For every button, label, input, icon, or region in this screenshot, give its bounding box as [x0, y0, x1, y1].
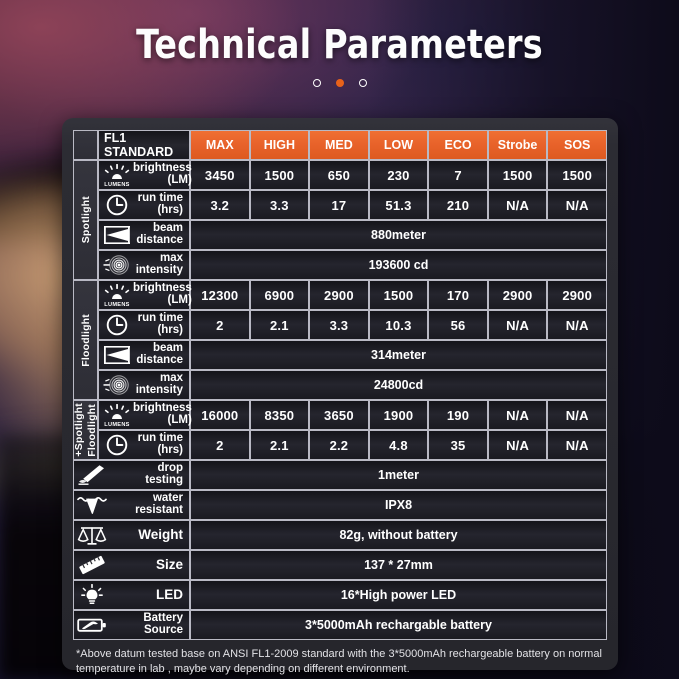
value-cell: 7 — [428, 160, 488, 190]
value-cell: 2.1 — [250, 430, 310, 460]
span-value-cell: 82g, without battery — [190, 520, 607, 550]
group-label-floodlight: Floodlight+Spotlight — [73, 400, 98, 460]
table-row: beamdistance880meter — [73, 220, 607, 250]
span-value-cell: 3*5000mAh rechargable battery — [190, 610, 607, 640]
value-cell: 2900 — [488, 280, 548, 310]
span-value-cell: IPX8 — [190, 490, 607, 520]
value-cell: 1900 — [369, 400, 429, 430]
table-row: Weight82g, without battery — [73, 520, 607, 550]
row-label-text: BatterySource — [108, 613, 186, 637]
page-title: Technical Parameters — [24, 22, 655, 68]
lumens-burst-icon: LUMENS — [101, 403, 133, 427]
ruler-icon — [76, 554, 108, 576]
value-cell: 4.8 — [369, 430, 429, 460]
group-label-text: Spotlight — [80, 196, 92, 243]
row-label-text: run time(hrs) — [133, 433, 186, 457]
table-row: maxintensity24800cd — [73, 370, 607, 400]
row-label-cell: run time(hrs) — [98, 310, 190, 340]
clock-icon — [101, 313, 133, 337]
value-cell: 8350 — [250, 400, 310, 430]
max-intensity-icon — [101, 254, 133, 276]
row-label-cell: droptesting — [73, 460, 190, 490]
lumens-burst-icon: LUMENS — [101, 163, 133, 187]
table-row: run time(hrs)22.12.24.835N/AN/A — [73, 430, 607, 460]
value-cell: 10.3 — [369, 310, 429, 340]
row-label-text: run time(hrs) — [133, 313, 186, 337]
column-header-eco: ECO — [428, 130, 488, 160]
lumens-burst-icon: LUMENS — [101, 283, 133, 307]
row-label-cell: maxintensity — [98, 370, 190, 400]
value-cell: 1500 — [250, 160, 310, 190]
value-cell: N/A — [547, 190, 607, 220]
row-label-text: brightness(LM) — [133, 163, 195, 187]
table-row: maxintensity193600 cd — [73, 250, 607, 280]
group-label-text: Floodlight — [80, 314, 92, 367]
value-cell: 230 — [369, 160, 429, 190]
table-row: run time(hrs)3.23.31751.3210N/AN/A — [73, 190, 607, 220]
value-cell: 3650 — [309, 400, 369, 430]
value-cell: 2900 — [309, 280, 369, 310]
row-label-text: waterresistant — [108, 493, 186, 517]
table-row: Floodlight LUMENS brightness(LM)12300690… — [73, 280, 607, 310]
row-label-cell: Size — [73, 550, 190, 580]
beam-distance-icon — [101, 224, 133, 246]
column-header-sos: SOS — [547, 130, 607, 160]
span-value-cell: 24800cd — [190, 370, 607, 400]
value-cell: 3450 — [190, 160, 250, 190]
value-cell: 3.2 — [190, 190, 250, 220]
value-cell: N/A — [547, 310, 607, 340]
clock-icon — [101, 193, 133, 217]
value-cell: 2900 — [547, 280, 607, 310]
table-header-row: FL1 STANDARDMAXHIGHMEDLOWECOStrobeSOS — [73, 130, 607, 160]
row-label-cell: Weight — [73, 520, 190, 550]
row-label-cell: LUMENS brightness(LM) — [98, 400, 190, 430]
value-cell: 3.3 — [309, 310, 369, 340]
column-header-strobe: Strobe — [488, 130, 548, 160]
value-cell: 1500 — [369, 280, 429, 310]
table-row: run time(hrs)22.13.310.356N/AN/A — [73, 310, 607, 340]
technical-parameters-table: FL1 STANDARDMAXHIGHMEDLOWECOStrobeSOSSpo… — [73, 130, 607, 640]
span-value-cell: 137 * 27mm — [190, 550, 607, 580]
corner-blank-cell — [73, 130, 98, 160]
row-label-text: Size — [108, 558, 186, 572]
value-cell: N/A — [547, 400, 607, 430]
table-row: waterresistantIPX8 — [73, 490, 607, 520]
carousel-dots[interactable] — [0, 79, 679, 87]
row-label-text: droptesting — [108, 463, 186, 487]
carousel-dot-1[interactable] — [313, 79, 321, 87]
row-label-text: maxintensity — [133, 373, 186, 397]
column-header-low: LOW — [369, 130, 429, 160]
column-header-med: MED — [309, 130, 369, 160]
value-cell: N/A — [488, 190, 548, 220]
fl1-standard-label: FL1 STANDARD — [98, 130, 190, 160]
svg-text:LUMENS: LUMENS — [104, 182, 129, 187]
row-label-cell: LUMENS brightness(LM) — [98, 280, 190, 310]
spec-table-panel: FL1 STANDARDMAXHIGHMEDLOWECOStrobeSOSSpo… — [62, 118, 618, 670]
value-cell: 51.3 — [369, 190, 429, 220]
group-label-text: Floodlight — [86, 404, 98, 457]
table-row: BatterySource3*5000mAh rechargable batte… — [73, 610, 607, 640]
group-label-floodlight: Floodlight — [73, 280, 98, 400]
row-label-cell: run time(hrs) — [98, 190, 190, 220]
value-cell: 16000 — [190, 400, 250, 430]
table-row: Floodlight+Spotlight LUMENS brightness(L… — [73, 400, 607, 430]
row-label-cell: LED — [73, 580, 190, 610]
span-value-cell: 1meter — [190, 460, 607, 490]
value-cell: 650 — [309, 160, 369, 190]
value-cell: 170 — [428, 280, 488, 310]
value-cell: 1500 — [547, 160, 607, 190]
value-cell: 210 — [428, 190, 488, 220]
value-cell: 2.2 — [309, 430, 369, 460]
scales-icon — [76, 524, 108, 546]
max-intensity-icon — [101, 374, 133, 396]
svg-text:LUMENS: LUMENS — [104, 422, 129, 427]
beam-distance-icon — [101, 344, 133, 366]
row-label-text: brightness(LM) — [133, 403, 195, 427]
carousel-dot-3[interactable] — [359, 79, 367, 87]
table-row: droptesting1meter — [73, 460, 607, 490]
row-label-text: beamdistance — [133, 223, 186, 247]
span-value-cell: 314meter — [190, 340, 607, 370]
row-label-text: beamdistance — [133, 343, 186, 367]
value-cell: 190 — [428, 400, 488, 430]
row-label-cell: maxintensity — [98, 250, 190, 280]
drop-testing-icon — [76, 464, 108, 486]
value-cell: N/A — [488, 310, 548, 340]
group-label-spotlight: Spotlight — [73, 160, 98, 280]
span-value-cell: 16*High power LED — [190, 580, 607, 610]
table-row: Spotlight LUMENS brightness(LM)345015006… — [73, 160, 607, 190]
value-cell: N/A — [488, 430, 548, 460]
row-label-text: brightness(LM) — [133, 283, 195, 307]
row-label-text: Weight — [108, 528, 186, 542]
value-cell: N/A — [488, 400, 548, 430]
value-cell: 2 — [190, 430, 250, 460]
row-label-text: run time(hrs) — [133, 193, 186, 217]
column-header-high: HIGH — [250, 130, 310, 160]
value-cell: 6900 — [250, 280, 310, 310]
led-bulb-icon — [76, 584, 108, 606]
row-label-cell: LUMENS brightness(LM) — [98, 160, 190, 190]
value-cell: 12300 — [190, 280, 250, 310]
table-row: Size137 * 27mm — [73, 550, 607, 580]
value-cell: 3.3 — [250, 190, 310, 220]
row-label-cell: BatterySource — [73, 610, 190, 640]
column-header-max: MAX — [190, 130, 250, 160]
row-label-cell: beamdistance — [98, 220, 190, 250]
row-label-cell: waterresistant — [73, 490, 190, 520]
value-cell: 35 — [428, 430, 488, 460]
value-cell: 17 — [309, 190, 369, 220]
water-resistant-icon — [76, 494, 108, 516]
row-label-text: maxintensity — [133, 253, 186, 277]
row-label-text: LED — [108, 588, 186, 602]
table-row: LED16*High power LED — [73, 580, 607, 610]
footnote-text: *Above datum tested base on ANSI FL1-200… — [73, 647, 607, 677]
carousel-dot-2[interactable] — [336, 79, 344, 87]
span-value-cell: 880meter — [190, 220, 607, 250]
row-label-cell: run time(hrs) — [98, 430, 190, 460]
battery-icon — [76, 615, 108, 635]
value-cell: 56 — [428, 310, 488, 340]
value-cell: 2 — [190, 310, 250, 340]
table-row: beamdistance314meter — [73, 340, 607, 370]
group-label-text-2: +Spotlight — [73, 403, 85, 457]
svg-text:LUMENS: LUMENS — [104, 302, 129, 307]
value-cell: 1500 — [488, 160, 548, 190]
value-cell: N/A — [547, 430, 607, 460]
span-value-cell: 193600 cd — [190, 250, 607, 280]
value-cell: 2.1 — [250, 310, 310, 340]
row-label-cell: beamdistance — [98, 340, 190, 370]
page-header: Technical Parameters — [0, 0, 679, 87]
clock-icon — [101, 433, 133, 457]
